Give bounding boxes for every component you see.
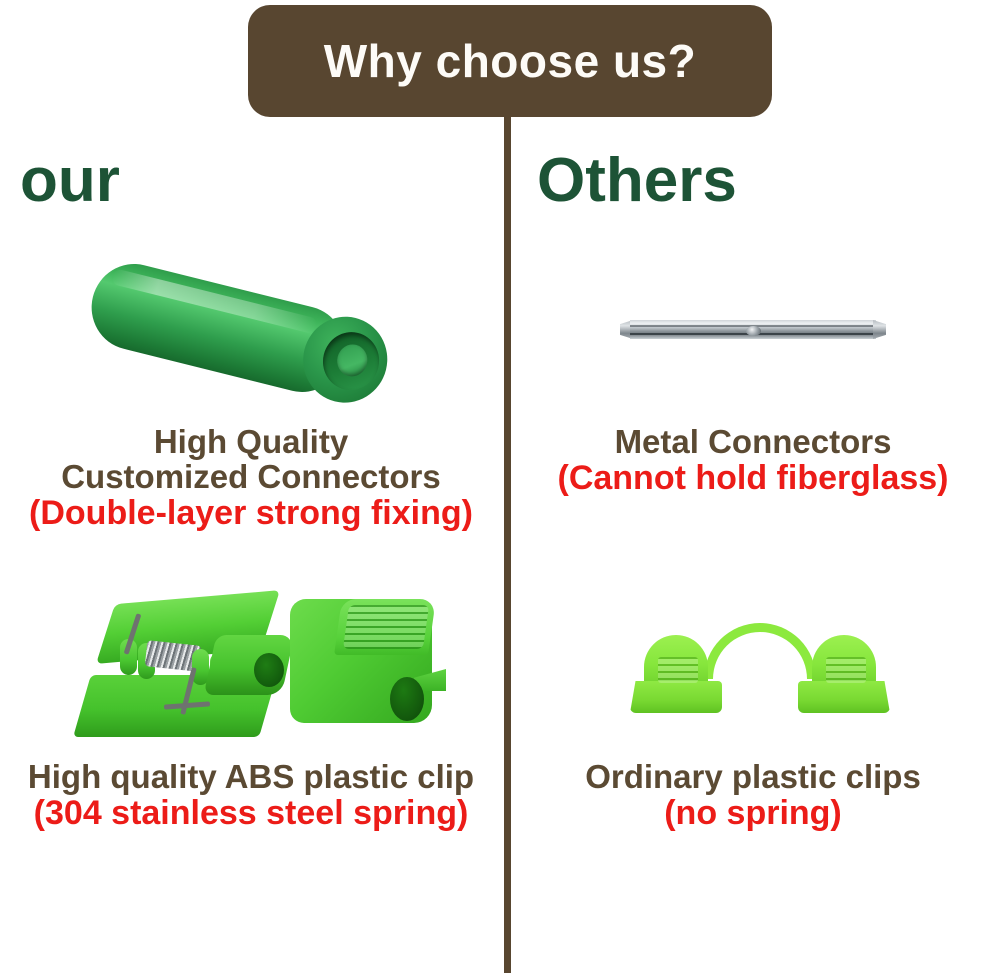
product-abs-plastic-clip: High quality ABS plastic clip (304 stain…	[0, 575, 502, 831]
abs-clip-open-graphic	[68, 583, 298, 748]
caption-metal-connector: Metal Connectors (Cannot hold fiberglass…	[512, 425, 994, 496]
column-heading-our: our	[20, 150, 120, 212]
abs-clip-closed-graphic	[286, 591, 446, 741]
column-divider	[504, 108, 511, 973]
caption-green-tube: High Quality Customized Connectors (Doub…	[0, 425, 502, 531]
clip-grip-ridges	[658, 657, 698, 683]
product-metal-connector: Metal Connectors (Cannot hold fiberglass…	[512, 250, 994, 496]
product-green-tube-connector: High Quality Customized Connectors (Doub…	[0, 250, 502, 531]
column-others: Others Metal Connectors (Cannot hold fib…	[512, 130, 994, 950]
clip-grip-ridges	[343, 605, 429, 649]
ordinary-plastic-clips-icon	[512, 575, 994, 760]
caption-main-text: High quality ABS plastic clip	[0, 760, 502, 795]
caption-sub-text: (Double-layer strong fixing)	[0, 495, 502, 531]
clip-foot	[798, 681, 890, 713]
clip-mouth-opening	[390, 677, 424, 721]
header-banner: Why choose us?	[248, 5, 772, 117]
ordinary-clip	[798, 635, 890, 713]
green-tube-connector-icon	[0, 250, 502, 425]
clip-foot	[630, 681, 722, 713]
column-heading-others: Others	[537, 150, 737, 212]
clip-jaw-opening	[254, 653, 284, 687]
metal-connector-icon	[512, 250, 994, 425]
banner-title: Why choose us?	[324, 38, 696, 84]
ordinary-clip	[630, 635, 722, 713]
comparison-infographic: Why choose us? our High Quality Customiz…	[0, 0, 994, 973]
metal-tube-graphic	[620, 312, 886, 346]
caption-main-text: Ordinary plastic clips	[512, 760, 994, 795]
tube-graphic	[74, 226, 401, 444]
caption-abs-clip: High quality ABS plastic clip (304 stain…	[0, 760, 502, 831]
metal-tube-dimple	[746, 326, 761, 336]
ordinary-clips-graphic	[630, 617, 890, 727]
caption-main-text: Metal Connectors	[512, 425, 994, 460]
caption-sub-text: (Cannot hold fiberglass)	[512, 460, 994, 496]
caption-sub-text: (no spring)	[512, 795, 994, 831]
caption-sub-text: (304 stainless steel spring)	[0, 795, 502, 831]
abs-plastic-clip-icon	[0, 575, 502, 760]
metal-tube-end	[873, 320, 886, 339]
clip-grip-ridges	[826, 657, 866, 683]
caption-main-text: High Quality Customized Connectors	[0, 425, 502, 495]
caption-ordinary-clips: Ordinary plastic clips (no spring)	[512, 760, 994, 831]
column-our: our High Quality Customized Connectors (…	[0, 130, 502, 950]
product-ordinary-plastic-clips: Ordinary plastic clips (no spring)	[512, 575, 994, 831]
